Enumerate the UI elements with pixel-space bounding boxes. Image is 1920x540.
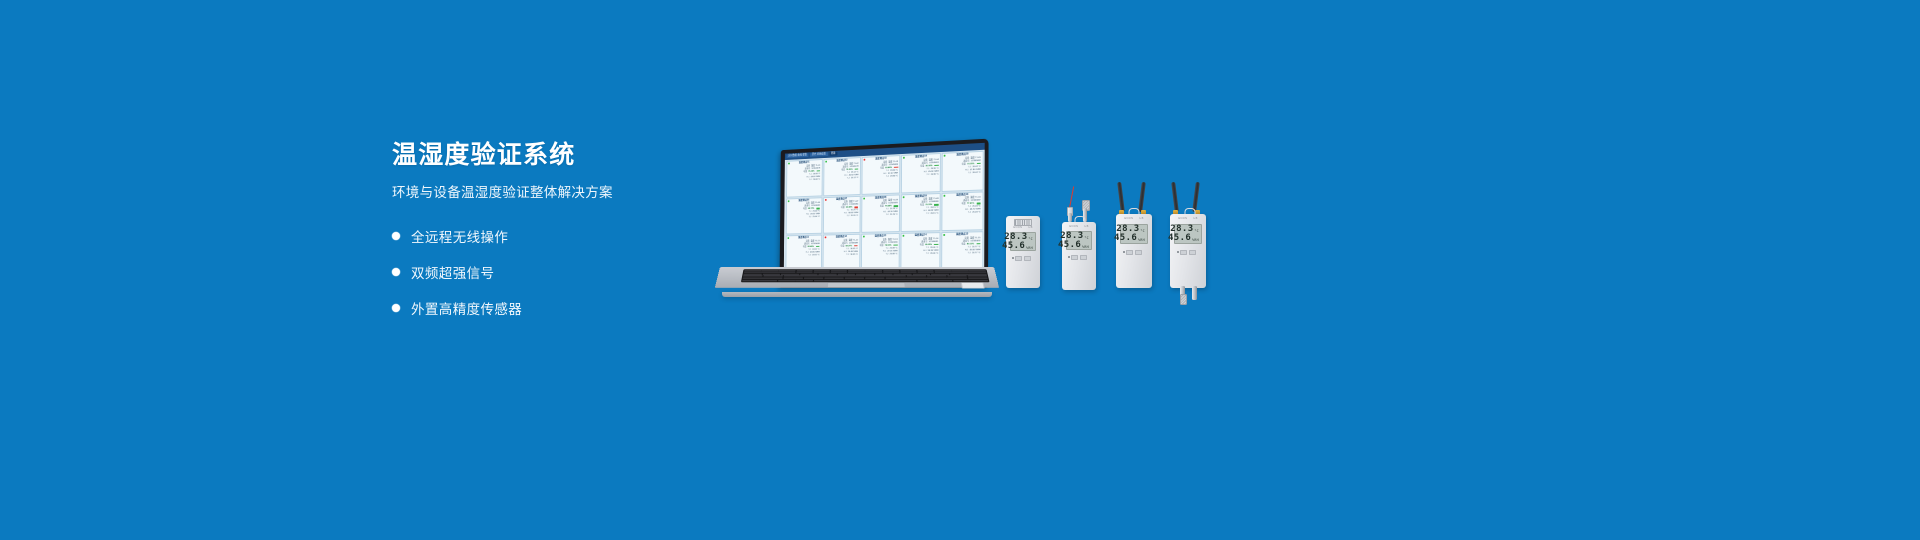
status-badge	[935, 164, 939, 166]
row-label: T-2	[926, 213, 929, 216]
keypad-button[interactable]	[1135, 250, 1142, 255]
row-value: 25.76 °C	[890, 214, 898, 217]
laptop-spec-sticker	[961, 282, 985, 288]
keypad-button[interactable]	[1126, 250, 1133, 255]
device-keypad[interactable]	[1071, 255, 1087, 260]
alarm-badge	[854, 245, 858, 247]
monitoring-card[interactable]: 温度测点12设备温度 T1-12通道号1/2345689电量58.27%T-13…	[822, 234, 860, 272]
card-data-row: T-224.77 °C	[944, 252, 980, 255]
status-led-icon	[787, 237, 789, 239]
laptop-screen: 实时数据 曲线 报警 历史 系统设置 帮助 温度测点01设备温度 T1-01通道…	[784, 143, 985, 280]
row-label: T-2	[809, 179, 812, 182]
status-led-icon	[1177, 251, 1179, 253]
device-transmitter-assembly-1: ENON H8 28.3 °C 45.6 %RH	[1112, 180, 1156, 292]
device-logger-basic: ENON H8 28.3 °C 45.6 %RH	[1006, 216, 1040, 288]
row-value: 24.61 °C	[812, 254, 819, 257]
banner-root: 温湿度验证系统 环境与设备温湿度验证整体解决方案 全远程无线操作 双频超强信号 …	[0, 0, 1920, 540]
feature-label: 外置高精度传感器	[411, 298, 522, 318]
laptop-base	[712, 267, 1002, 303]
device-keypad[interactable]	[1180, 250, 1196, 255]
row-label: T-2	[926, 173, 929, 176]
lcd-humidity-line: 45.6 %RH	[1123, 234, 1145, 243]
alarm-badge	[894, 166, 898, 168]
lcd-display: 28.3 °C 45.6 %RH	[1066, 231, 1092, 250]
monitoring-card[interactable]: 温度测点02设备温度 T1-02通道号1/2345679电量78.30%T-12…	[823, 157, 861, 196]
sensor-device-group: ENON H8 28.3 °C 45.6 %RH	[1000, 180, 1220, 310]
monitoring-card[interactable]: 温度测点15设备温度 T1-15通道号1/2345692电量80.12%T-12…	[941, 231, 982, 271]
keypad-button[interactable]	[1024, 256, 1031, 261]
bullet-dot-icon	[392, 304, 400, 312]
lcd-display: 28.3 °C 45.6 %RH	[1120, 224, 1148, 244]
status-badge	[855, 168, 859, 170]
status-led-icon	[1068, 256, 1070, 258]
lcd-humidity-line: 45.6 %RH	[1069, 241, 1089, 250]
row-label: T-2	[968, 172, 971, 175]
status-badge	[934, 244, 938, 246]
antenna-icon	[1171, 182, 1179, 212]
status-led-icon	[788, 163, 790, 165]
laptop-deck	[715, 267, 999, 288]
keypad-button[interactable]	[1189, 250, 1196, 255]
laptop-base-front	[722, 292, 992, 297]
brand-left: ENON	[1124, 217, 1133, 220]
row-label: T-2	[808, 254, 811, 257]
humidity-value: 45.6	[1002, 242, 1025, 251]
status-badge	[816, 170, 820, 172]
row-value: 26.15 °C	[930, 213, 938, 216]
keyboard-key[interactable]	[971, 280, 988, 282]
card-data-row: T-225.12 °C	[825, 177, 858, 181]
card-data-row: T-224.90 °C	[903, 173, 938, 177]
row-value: 24.90 °C	[931, 173, 939, 176]
status-badge	[976, 203, 980, 205]
page-title: 温湿度验证系统	[392, 140, 722, 170]
keyboard-key[interactable]	[953, 280, 970, 282]
brand-right: H8	[1085, 225, 1089, 228]
tab-history[interactable]: 历史 系统设置	[810, 153, 827, 157]
monitoring-card[interactable]: 温度测点05设备温度 T1-05通道号1/2345682电量73.15%T-12…	[942, 151, 983, 192]
card-data-row: T-229.84 °C	[864, 175, 898, 179]
humidity-unit: %RH	[1026, 247, 1033, 251]
row-value: 24.77 °C	[972, 252, 980, 255]
humidity-unit: %RH	[1138, 239, 1145, 243]
card-data-row: T-230.55 °C	[825, 253, 858, 256]
device-brand: ENON H8	[1006, 226, 1040, 229]
row-label: T-2	[968, 212, 971, 215]
lcd-humidity-line: 45.6 %RH	[1177, 234, 1199, 243]
list-item: 外置高精度传感器	[392, 298, 722, 318]
row-value: 25.44 °C	[813, 216, 820, 219]
laptop-keyboard[interactable]	[741, 269, 989, 282]
row-value: 29.84 °C	[890, 175, 898, 178]
monitoring-card[interactable]: 温度测点09设备温度 T1-09通道号1/2345686电量70.33%T-12…	[901, 192, 941, 231]
vent-grille-icon	[1014, 219, 1032, 226]
status-badge	[816, 246, 820, 248]
feature-list: 全远程无线操作 双频超强信号 外置高精度传感器	[392, 226, 722, 318]
keyboard-key[interactable]	[814, 280, 917, 282]
keyboard-key[interactable]	[935, 280, 952, 282]
humidity-value: 45.6	[1058, 241, 1081, 250]
tab-help[interactable]: 帮助	[829, 152, 837, 156]
red-wire-icon	[1069, 186, 1074, 208]
row-label: T-2	[847, 215, 850, 218]
keyboard-key[interactable]	[917, 280, 934, 282]
lcd-humidity-line: 45.6 %RH	[1013, 242, 1033, 251]
monitoring-card[interactable]: 温度测点07设备温度 T1-07通道号1/2345684电量55.08%T-13…	[823, 195, 861, 233]
alarm-badge	[854, 206, 858, 208]
row-label: T-2	[926, 252, 929, 255]
device-logger-external-probe: ENON H8 28.3 °C 45.6 %RH	[1062, 222, 1096, 290]
status-led-icon	[1012, 257, 1014, 259]
list-item: 全远程无线操作	[392, 226, 722, 246]
monitoring-card[interactable]: 温度测点06设备温度 T1-06通道号1/2345683电量68.72%T-12…	[785, 197, 822, 235]
brand-left: ENON	[1178, 217, 1187, 220]
monitoring-card[interactable]: 温度测点14设备温度 T1-14通道号1/2345691电量69.05%T-12…	[901, 232, 941, 271]
device-brand: ENON H8	[1170, 217, 1206, 220]
probe-shaft-icon	[1068, 213, 1073, 222]
monitoring-card[interactable]: 温度测点03设备温度 T1-03通道号1/2345680电量60.48%T-12…	[861, 155, 900, 194]
row-value: 25.03 °C	[972, 211, 980, 214]
humidity-unit: %RH	[1082, 246, 1089, 250]
row-label: T-2	[809, 216, 812, 219]
device-transmitter-dual-antenna-1: ENON H8 28.3 °C 45.6 %RH	[1116, 214, 1152, 288]
row-value: 26.02 °C	[972, 171, 980, 174]
keyboard-key[interactable]	[778, 280, 795, 282]
humidity-unit: %RH	[1192, 239, 1199, 243]
card-data-row: T-224.61 °C	[787, 254, 819, 257]
card-data-row: T-226.40 °C	[903, 252, 938, 255]
monitoring-card-grid: 温度测点01设备温度 T1-01通道号1/2345678电量75.26%T-12…	[784, 149, 985, 273]
keypad-button[interactable]	[1080, 255, 1087, 260]
monitoring-card[interactable]: 温度测点10设备温度 T1-10通道号1/2345687电量77.61%T-12…	[942, 191, 983, 231]
feature-label: 全远程无线操作	[411, 226, 508, 246]
brand-right: H8	[1194, 217, 1198, 220]
laptop-lid: 实时数据 曲线 报警 历史 系统设置 帮助 温度测点01设备温度 T1-01通道…	[779, 139, 988, 288]
lcd-display: 28.3 °C 45.6 %RH	[1174, 224, 1202, 244]
row-value: 26.40 °C	[930, 252, 938, 255]
row-label: T-2	[886, 175, 889, 178]
card-data-row: T-225.68 °C	[788, 178, 820, 182]
probe-sensor-cap-icon	[1180, 294, 1188, 305]
status-led-icon	[863, 197, 865, 199]
status-badge	[893, 244, 897, 246]
card-data-row: T-226.02 °C	[944, 171, 980, 175]
bullet-dot-icon	[392, 232, 400, 240]
bullet-dot-icon	[392, 268, 400, 276]
status-badge	[934, 204, 938, 206]
device-logger-probe-assembly: ENON H8 28.3 °C 45.6 %RH	[1058, 186, 1102, 290]
row-label: T-2	[846, 253, 849, 256]
page-subtitle: 环境与设备温湿度验证整体解决方案	[392, 184, 722, 202]
device-keypad[interactable]	[1015, 256, 1031, 261]
device-transmitter-assembly-2: ENON H8 28.3 °C 45.6 %RH	[1166, 180, 1214, 306]
row-value: 25.12 °C	[851, 177, 859, 180]
card-data-row: T-225.44 °C	[788, 216, 820, 220]
row-label: T-2	[886, 214, 889, 217]
keyboard-key[interactable]	[796, 280, 813, 282]
antenna-icon	[1117, 182, 1125, 212]
keyboard-key[interactable]	[760, 280, 777, 282]
monitoring-card[interactable]: 温度测点13设备温度 T1-13通道号1/2345690电量74.90%T-12…	[861, 233, 900, 271]
row-value: 31.20 °C	[851, 215, 859, 218]
monitoring-card[interactable]: 温度测点08设备温度 T1-08通道号1/2345685电量79.44%T-12…	[861, 194, 900, 233]
keyboard-row	[742, 280, 988, 282]
row-value: 25.68 °C	[813, 178, 820, 181]
humidity-value: 45.6	[1114, 234, 1137, 243]
keypad-button[interactable]	[1071, 255, 1078, 260]
brand-left: ENON	[1013, 226, 1022, 229]
brand-right: H8	[1029, 226, 1033, 229]
card-data-row: T-225.76 °C	[863, 214, 897, 218]
status-led-icon	[1123, 251, 1125, 253]
laptop-product-image: 实时数据 曲线 报警 历史 系统设置 帮助 温度测点01设备温度 T1-01通道…	[712, 138, 1002, 303]
device-brand: ENON H8	[1116, 217, 1152, 220]
device-brand: ENON H8	[1062, 225, 1096, 228]
status-badge	[976, 162, 980, 164]
keypad-button[interactable]	[1015, 256, 1022, 261]
keyboard-key[interactable]	[742, 280, 759, 282]
feature-label: 双频超强信号	[411, 262, 494, 282]
brand-left: ENON	[1069, 225, 1078, 228]
alarm-led-icon	[825, 199, 827, 201]
laptop-touchpad[interactable]	[827, 282, 906, 288]
card-data-row: T-226.15 °C	[903, 213, 938, 217]
row-value: 30.55 °C	[850, 253, 858, 256]
status-badge	[894, 205, 898, 207]
status-badge	[976, 243, 980, 245]
card-data-row: T-225.88 °C	[863, 253, 897, 256]
row-label: T-2	[886, 253, 889, 256]
device-keypad[interactable]	[1126, 250, 1142, 255]
device-transmitter-dual-antenna-2: ENON H8 28.3 °C 45.6 %RH	[1170, 214, 1206, 288]
brand-right: H8	[1140, 217, 1144, 220]
humidity-value: 45.6	[1168, 234, 1191, 243]
keypad-button[interactable]	[1180, 250, 1187, 255]
monitoring-card[interactable]: 温度测点01设备温度 T1-01通道号1/2345678电量75.26%T-12…	[786, 159, 823, 197]
row-label: T-2	[847, 177, 850, 180]
card-data-row: T-225.03 °C	[944, 211, 980, 215]
row-label: T-2	[968, 252, 971, 255]
card-data-row: T-231.20 °C	[825, 215, 858, 219]
probe-shaft-icon	[1192, 286, 1197, 300]
banner-text-block: 温湿度验证系统 环境与设备温湿度验证整体解决方案 全远程无线操作 双频超强信号 …	[392, 140, 722, 334]
antenna-icon	[1138, 182, 1146, 212]
status-led-icon	[787, 200, 789, 202]
row-value: 25.88 °C	[890, 253, 898, 256]
lcd-display: 28.3 °C 45.6 %RH	[1010, 232, 1036, 251]
list-item: 双频超强信号	[392, 262, 722, 282]
monitoring-card[interactable]: 温度测点04设备温度 T1-04通道号1/2345681电量81.00%T-12…	[901, 153, 941, 193]
status-badge	[816, 208, 820, 210]
